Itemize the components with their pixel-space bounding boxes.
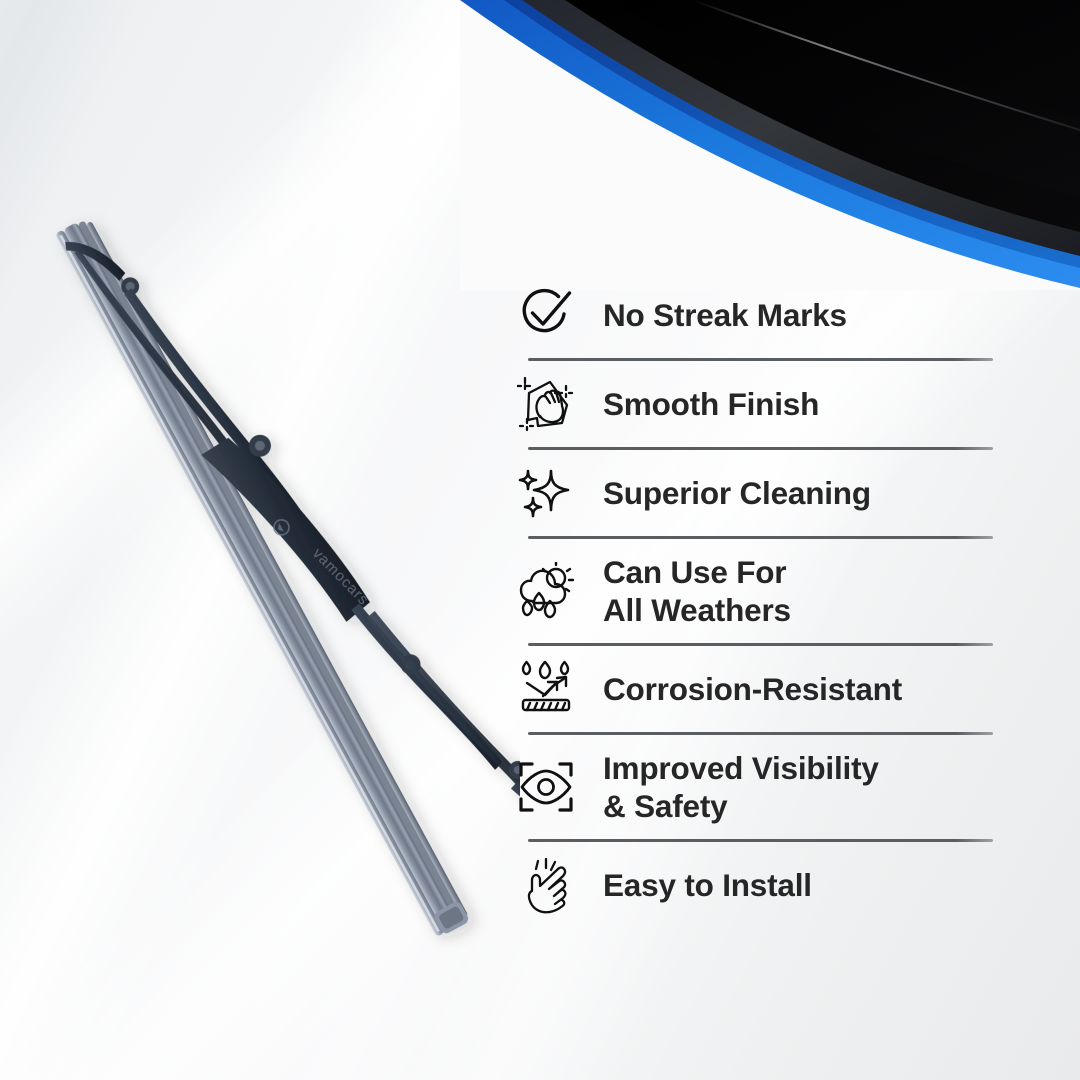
feature-label: Improved Visibility & Safety bbox=[603, 749, 879, 826]
feature-row: Superior Cleaning bbox=[515, 450, 1005, 536]
feature-row: Can Use For All Weathers bbox=[515, 539, 1005, 643]
sparkles-icon bbox=[515, 462, 577, 524]
product-brand-text: vamocars bbox=[309, 545, 372, 609]
feature-row: Easy to Install bbox=[515, 842, 1005, 928]
feature-row: Smooth Finish bbox=[515, 361, 1005, 447]
check-circle-icon bbox=[515, 284, 577, 346]
cloud-rain-sun-icon bbox=[515, 560, 577, 622]
feature-label: Corrosion-Resistant bbox=[603, 670, 902, 708]
feature-label: Easy to Install bbox=[603, 866, 812, 904]
water-repellent-icon bbox=[515, 658, 577, 720]
infographic-canvas: vamocars No S bbox=[0, 0, 1080, 1080]
feature-label: Can Use For All Weathers bbox=[603, 553, 791, 630]
tap-hand-icon bbox=[515, 854, 577, 916]
feature-row: Corrosion-Resistant bbox=[515, 646, 1005, 732]
feature-row: Improved Visibility & Safety bbox=[515, 735, 1005, 839]
feature-label: Superior Cleaning bbox=[603, 474, 871, 512]
feature-row: No Streak Marks bbox=[515, 272, 1005, 358]
feature-label: Smooth Finish bbox=[603, 385, 819, 423]
feature-list: No Streak Marks Smooth Finish bbox=[515, 272, 1005, 928]
product-image-wiper-blade: vamocars bbox=[0, 150, 520, 1010]
eye-focus-icon bbox=[515, 756, 577, 818]
wipe-cloth-icon bbox=[515, 373, 577, 435]
corner-swoosh-decoration bbox=[460, 0, 1080, 290]
feature-label: No Streak Marks bbox=[603, 296, 847, 334]
